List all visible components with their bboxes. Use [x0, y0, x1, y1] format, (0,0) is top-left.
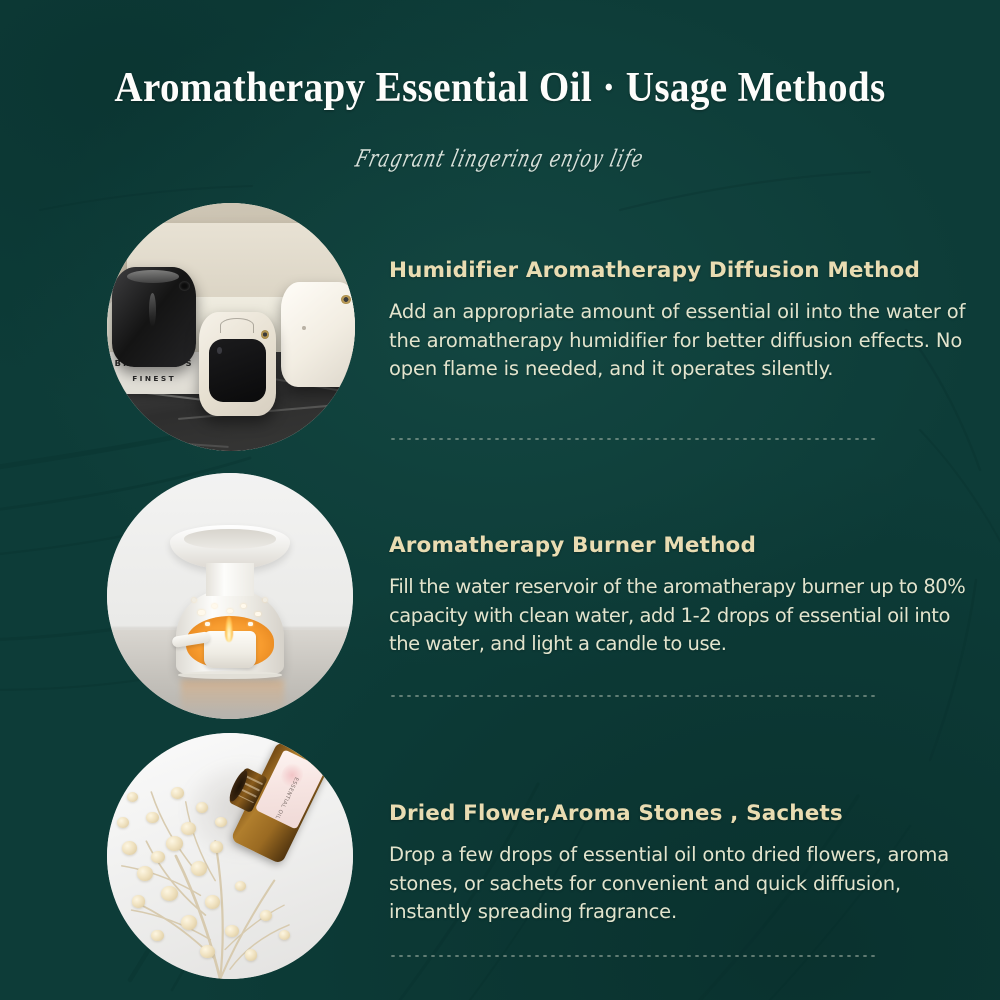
burner-foot	[178, 671, 282, 679]
glow-reflection	[181, 680, 284, 714]
section-heading: Dried Flower,Aroma Stones , Sachets	[389, 801, 976, 826]
dried-flower-copy: Dried Flower,Aroma Stones , Sachets Drop…	[389, 801, 976, 927]
section-humidifier: BROOKLYN'S FINEST Humidifier Aromatherap…	[0, 203, 1000, 463]
section-body: Drop a few drops of essential oil onto d…	[389, 841, 976, 927]
ceramic-oil-burner	[173, 525, 286, 678]
humidifier-photo: BROOKLYN'S FINEST	[107, 203, 355, 451]
section-heading: Humidifier Aromatherapy Diffusion Method	[389, 258, 976, 283]
section-divider	[389, 438, 875, 440]
burner-copy: Aromatherapy Burner Method Fill the wate…	[389, 533, 976, 659]
section-heading: Aromatherapy Burner Method	[389, 533, 976, 558]
section-body: Add an appropriate amount of essential o…	[389, 298, 976, 384]
page-subtitle: Fragrant lingering enjoy life	[66, 144, 933, 172]
dried-flower-stems	[107, 733, 353, 979]
section-divider	[389, 955, 875, 957]
section-body: Fill the water reservoir of the aromathe…	[389, 573, 976, 659]
section-burner: Aromatherapy Burner Method Fill the wate…	[0, 473, 1000, 723]
cream-humidifier-with-screen	[199, 312, 276, 416]
humidifier-copy: Humidifier Aromatherapy Diffusion Method…	[389, 258, 976, 384]
aromatherapy-usage-poster: Aromatherapy Essential Oil · Usage Metho…	[0, 0, 1000, 1000]
dried-flower-photo: ESSENTIAL OIL	[107, 733, 353, 979]
book-title-line-2: FINEST	[107, 374, 204, 383]
black-humidifier	[112, 267, 196, 366]
section-dried-flower: ESSENTIAL OIL	[0, 733, 1000, 983]
burner-waist	[206, 563, 254, 597]
white-humidifier	[281, 282, 355, 386]
page-title: Aromatherapy Essential Oil · Usage Metho…	[35, 64, 965, 112]
section-divider	[389, 695, 875, 697]
ceramic-burner-photo	[107, 473, 353, 719]
